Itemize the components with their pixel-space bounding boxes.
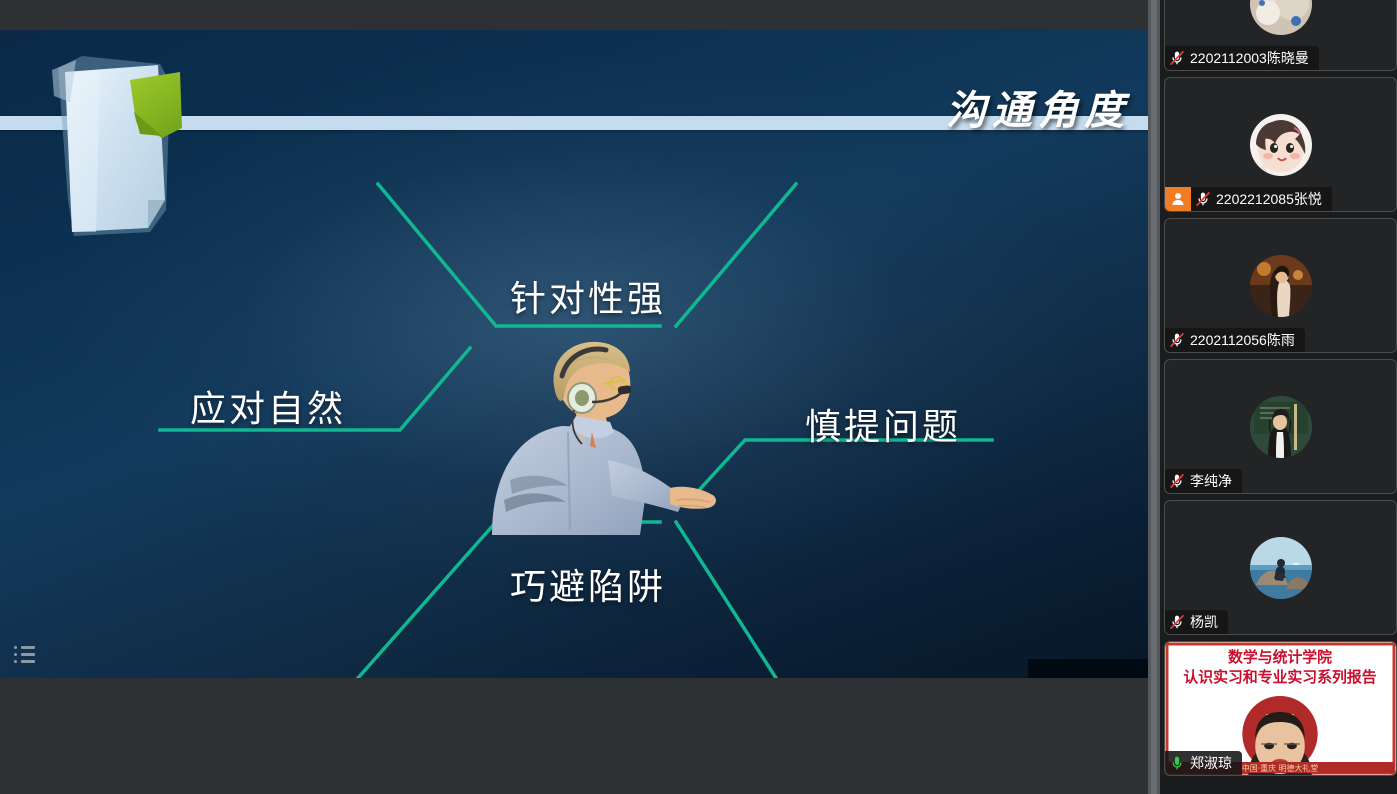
mic-muted-icon [1169, 614, 1185, 630]
participant-name: 李纯净 [1190, 473, 1232, 489]
mic-muted-icon [1195, 191, 1211, 207]
participant-video-area: 李纯净 [1165, 360, 1396, 493]
host-person-icon [1165, 187, 1191, 211]
avatar [1250, 396, 1312, 458]
svg-text:认识实习和专业实习系列报告: 认识实习和专业实习系列报告 [1183, 668, 1376, 686]
participant-nameplate: 2202112056陈雨 [1165, 328, 1305, 352]
mic-muted-icon [1169, 50, 1185, 66]
participant-nameplate: 2202212085张悦 [1191, 187, 1332, 211]
participant-video-area: 数学与统计学院 认识实习和专业实习系列报告 中国·重庆 明德大礼堂 [1165, 642, 1396, 775]
fishbone-label-bottom: 巧避陷阱 [510, 558, 666, 610]
participant-tile[interactable]: 2202212085张悦 [1164, 77, 1397, 212]
participant-video-area: 2202212085张悦 [1165, 78, 1396, 211]
avatar [1250, 0, 1312, 35]
participant-tile[interactable]: 2202112003陈晓曼 [1164, 0, 1397, 71]
list-icon[interactable] [14, 646, 36, 666]
avatar [1250, 255, 1312, 317]
mic-muted-icon [1169, 473, 1185, 489]
participant-nameplate: 李纯净 [1165, 469, 1242, 493]
participant-tile[interactable]: 2202112056陈雨 [1164, 218, 1397, 353]
fishbone-label-top: 针对性强 [510, 270, 666, 322]
shared-screen-stage[interactable]: 针对性强 应对自然 慎提问题 巧避陷阱 沟通角度 [0, 0, 1160, 794]
participant-name: 2202112056陈雨 [1190, 332, 1295, 348]
participant-nameplate: 2202112003陈晓曼 [1165, 46, 1319, 70]
participant-name: 2202112003陈晓曼 [1190, 50, 1309, 66]
participant-tile[interactable]: 李纯净 [1164, 359, 1397, 494]
participant-name: 杨凯 [1190, 614, 1218, 630]
slide-overlay-box [1028, 659, 1148, 678]
panel-divider[interactable] [1148, 0, 1160, 794]
fishbone-label-left: 应对自然 [190, 380, 346, 432]
participant-name: 2202212085张悦 [1216, 191, 1322, 207]
svg-text:中国·重庆 明德大礼堂: 中国·重庆 明德大礼堂 [1242, 763, 1318, 773]
participant-filmstrip[interactable]: 2202112003陈晓曼 [1160, 0, 1397, 794]
participant-video-area: 2202112056陈雨 [1165, 219, 1396, 352]
speaker-illustration [470, 340, 730, 535]
participant-name: 郑淑琼 [1190, 755, 1232, 771]
participant-video-area: 杨凯 [1165, 501, 1396, 634]
fishbone-label-right: 慎提问题 [805, 398, 961, 450]
participant-nameplate: 郑淑琼 [1165, 751, 1242, 775]
presentation-slide[interactable]: 针对性强 应对自然 慎提问题 巧避陷阱 沟通角度 [0, 30, 1148, 678]
avatar [1250, 537, 1312, 599]
slide-title: 沟通角度 [946, 78, 1130, 136]
participant-tile[interactable]: 杨凯 [1164, 500, 1397, 635]
participant-video-area: 2202112003陈晓曼 [1165, 0, 1396, 70]
meeting-window: 针对性强 应对自然 慎提问题 巧避陷阱 沟通角度 [0, 0, 1397, 794]
participant-nameplate: 杨凯 [1165, 610, 1228, 634]
svg-text:数学与统计学院: 数学与统计学院 [1228, 648, 1332, 666]
mic-active-icon [1169, 755, 1185, 771]
avatar [1250, 114, 1312, 176]
participant-tile[interactable]: 数学与统计学院 认识实习和专业实习系列报告 中国·重庆 明德大礼堂 [1164, 641, 1397, 776]
mic-muted-icon [1169, 332, 1185, 348]
